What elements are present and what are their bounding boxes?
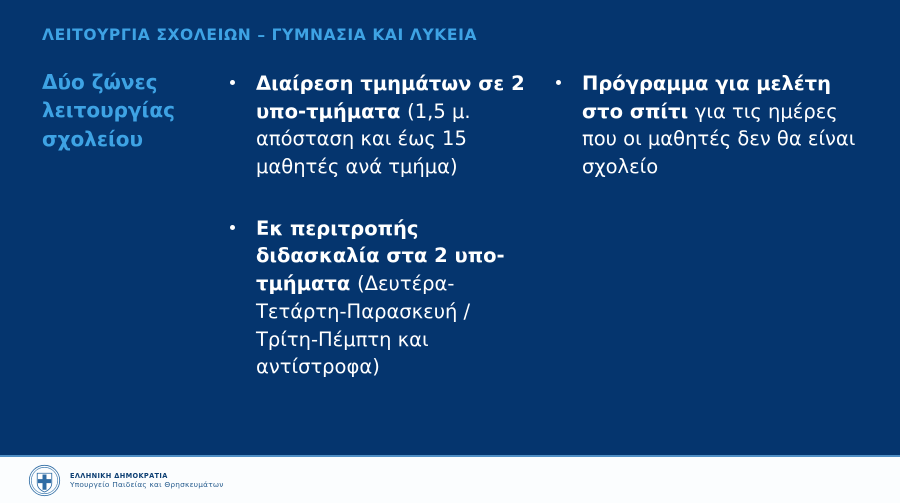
footer-branding: ΕΛΛΗΝΙΚΗ ΔΗΜΟΚΡΑΤΙΑ Υπουργείο Παιδείας κ…: [28, 464, 224, 497]
footer-organization: ΕΛΛΗΝΙΚΗ ΔΗΜΟΚΡΑΤΙΑ: [70, 472, 224, 480]
bullet-dot-icon: [230, 225, 235, 230]
footer-text-block: ΕΛΛΗΝΙΚΗ ΔΗΜΟΚΡΑΤΙΑ Υπουργείο Παιδείας κ…: [70, 472, 224, 489]
slide-title: ΛΕΙΤΟΥΡΓΙΑ ΣΧΟΛΕΙΩΝ – ΓΥΜΝΑΣΙΑ ΚΑΙ ΛΥΚΕΙ…: [42, 26, 477, 44]
hellenic-republic-emblem-icon: [28, 464, 61, 497]
list-item: Εκ περιτροπής διδασκαλία στα 2 υπο-τμήμα…: [226, 215, 526, 381]
slide: ΛΕΙΤΟΥΡΓΙΑ ΣΧΟΛΕΙΩΝ – ΓΥΜΝΑΣΙΑ ΚΑΙ ΛΥΚΕΙ…: [0, 0, 900, 503]
bullet-column-right: Πρόγραμμα για μελέτη στο σπίτι για τις η…: [552, 70, 862, 181]
section-label: Δύο ζώνες λειτουργίας σχολείου: [42, 68, 207, 153]
bullet-dot-icon: [556, 80, 561, 85]
bullet-text-bold: Διαίρεση τμημάτων σε 2 υπο-τμήματα: [256, 72, 525, 123]
bullet-dot-icon: [230, 80, 235, 85]
footer-ministry: Υπουργείο Παιδείας και Θρησκευμάτων: [70, 480, 224, 489]
list-item: Πρόγραμμα για μελέτη στο σπίτι για τις η…: [552, 70, 862, 181]
bullet-column-middle: Διαίρεση τμημάτων σε 2 υπο-τμήματα (1,5 …: [226, 70, 526, 381]
list-item: Διαίρεση τμημάτων σε 2 υπο-τμήματα (1,5 …: [226, 70, 526, 181]
footer-bar: ΕΛΛΗΝΙΚΗ ΔΗΜΟΚΡΑΤΙΑ Υπουργείο Παιδείας κ…: [0, 457, 900, 503]
